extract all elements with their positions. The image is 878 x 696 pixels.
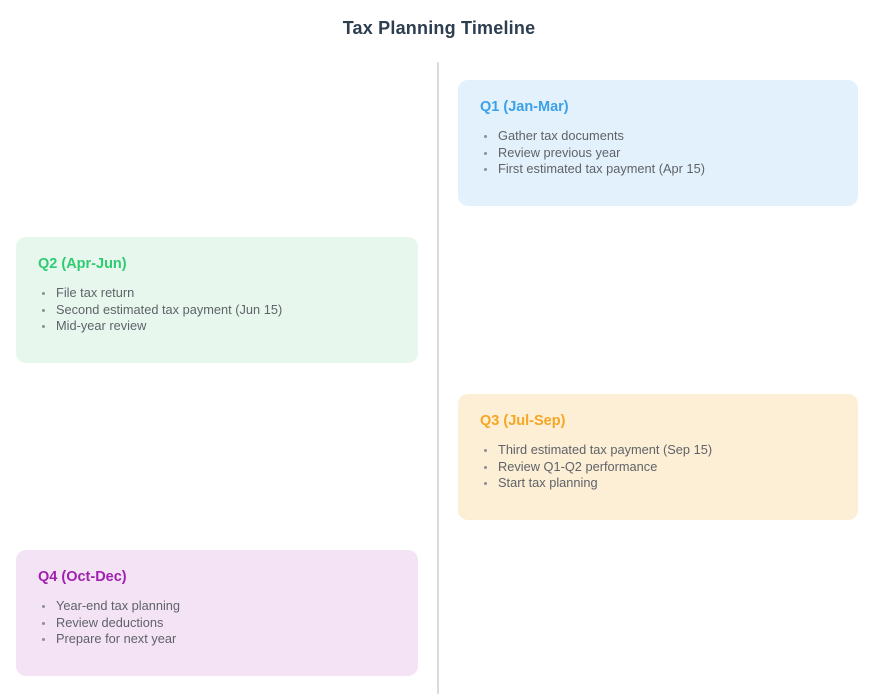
- list-item: Gather tax documents: [480, 128, 836, 145]
- timeline-card-q2-heading: Q2 (Apr-Jun): [38, 255, 396, 273]
- list-item: Second estimated tax payment (Jun 15): [38, 302, 396, 319]
- page-title: Tax Planning Timeline: [0, 16, 878, 40]
- list-item: Third estimated tax payment (Sep 15): [480, 442, 836, 459]
- timeline-card-q4[interactable]: Q4 (Oct-Dec) Year-end tax planning Revie…: [16, 550, 418, 676]
- timeline-card-q3-list: Third estimated tax payment (Sep 15) Rev…: [480, 442, 836, 492]
- list-item: Mid-year review: [38, 318, 396, 335]
- timeline-card-q2[interactable]: Q2 (Apr-Jun) File tax return Second esti…: [16, 237, 418, 363]
- timeline-page: Tax Planning Timeline Q1 (Jan-Mar) Gathe…: [0, 0, 878, 696]
- list-item: Year-end tax planning: [38, 598, 396, 615]
- timeline-card-q1-heading: Q1 (Jan-Mar): [480, 98, 836, 116]
- timeline-card-q4-list: Year-end tax planning Review deductions …: [38, 598, 396, 648]
- timeline-card-q3[interactable]: Q3 (Jul-Sep) Third estimated tax payment…: [458, 394, 858, 520]
- list-item: Prepare for next year: [38, 631, 396, 648]
- timeline-card-q3-heading: Q3 (Jul-Sep): [480, 412, 836, 430]
- timeline-spine: [437, 62, 439, 694]
- list-item: Review Q1-Q2 performance: [480, 459, 836, 476]
- timeline-card-q1[interactable]: Q1 (Jan-Mar) Gather tax documents Review…: [458, 80, 858, 206]
- list-item: File tax return: [38, 285, 396, 302]
- timeline-card-q4-heading: Q4 (Oct-Dec): [38, 568, 396, 586]
- timeline-card-q2-list: File tax return Second estimated tax pay…: [38, 285, 396, 335]
- timeline-card-q1-list: Gather tax documents Review previous yea…: [480, 128, 836, 178]
- list-item: Review deductions: [38, 615, 396, 632]
- list-item: First estimated tax payment (Apr 15): [480, 161, 836, 178]
- list-item: Review previous year: [480, 145, 836, 162]
- list-item: Start tax planning: [480, 475, 836, 492]
